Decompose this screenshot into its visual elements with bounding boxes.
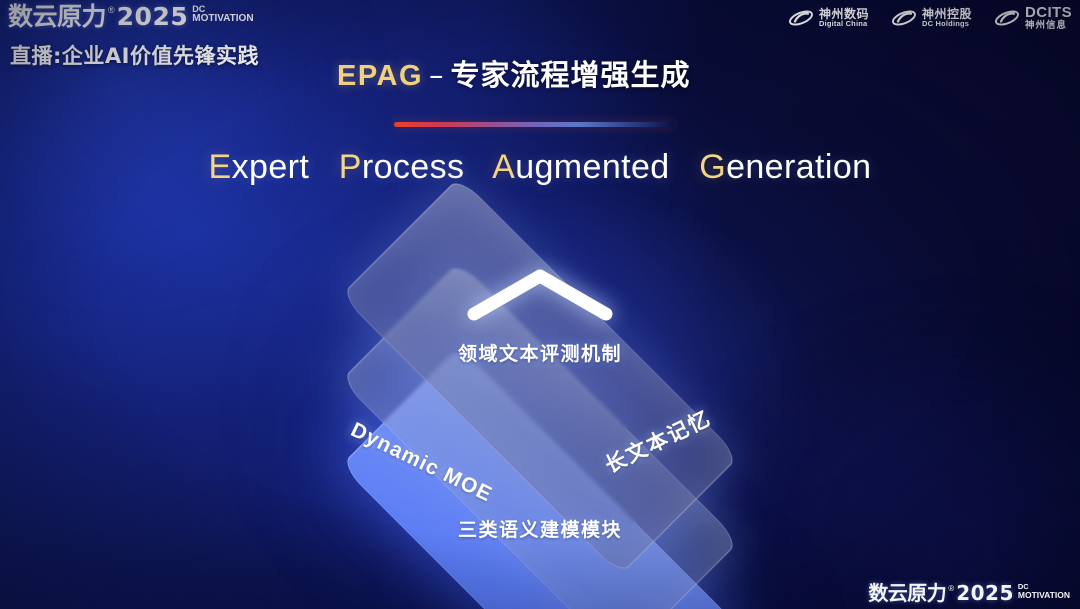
partner-label-group: 神州控股 DC Holdings xyxy=(922,8,972,28)
subtitle-space-1 xyxy=(319,148,329,186)
watermark-motivation-text: MOTIVATION xyxy=(1018,591,1070,600)
partner-logo-digital-china: 神州数码 Digital China xyxy=(788,7,869,29)
brand-year: 2025 xyxy=(117,4,189,29)
swirl-logo-icon xyxy=(994,7,1020,29)
chevron-up-icon xyxy=(462,264,618,322)
live-session-label: 直播:企业AI价值先锋实践 xyxy=(10,40,328,70)
title-chinese: 专家流程增强生成 xyxy=(451,58,691,92)
subtitle-word-process: Process xyxy=(339,148,465,186)
subtitle-cap-e: E xyxy=(209,148,232,186)
watermark-dc-motivation: DC MOTIVATION xyxy=(1018,583,1070,599)
partner-name-en: DC Holdings xyxy=(922,20,972,28)
subtitle-cap-a: A xyxy=(492,148,515,186)
partner-logo-dcits: DCITS 神州信息 xyxy=(994,5,1072,31)
brand-registered-mark: ® xyxy=(108,6,115,15)
partner-name-en: 神州信息 xyxy=(1025,21,1072,31)
partner-label-group: 神州数码 Digital China xyxy=(819,8,869,28)
header-left-block: 数云原力 ® 2025 DC MOTIVATION 直播:企业AI价值先锋实践 xyxy=(8,4,328,70)
subtitle-word-expert: Expert xyxy=(209,148,310,186)
stack-label-bottom: 三类语义建模模块 xyxy=(0,515,1080,542)
title-divider-rule xyxy=(394,122,674,127)
subtitle-expansion: Expert Process Augmented Generation xyxy=(0,148,1080,187)
subtitle-rest-augmented: ugmented xyxy=(515,148,669,186)
partner-logo-dc-holdings: 神州控股 DC Holdings xyxy=(891,7,972,29)
subtitle-rest-generation: eneration xyxy=(726,148,871,186)
title-acronym: EPAG xyxy=(337,60,423,92)
swirl-logo-icon xyxy=(891,7,917,29)
brand-name-cn: 数云原力 xyxy=(8,4,106,29)
partner-name-en: Digital China xyxy=(819,20,869,28)
slide-canvas: 数云原力 ® 2025 DC MOTIVATION 直播:企业AI价值先锋实践 … xyxy=(0,0,1080,609)
stack-label-top: 领域文本评测机制 xyxy=(0,339,1080,366)
subtitle-space-2 xyxy=(474,148,484,186)
swirl-logo-icon xyxy=(788,7,814,29)
subtitle-rest-expert: xpert xyxy=(232,148,310,186)
brand-dc-motivation: DC MOTIVATION xyxy=(192,5,253,24)
subtitle-cap-p: P xyxy=(339,148,362,186)
partner-logo-row: 神州数码 Digital China 神州控股 DC Holdings xyxy=(788,5,1072,31)
partner-label-group: DCITS 神州信息 xyxy=(1025,5,1072,31)
title-dash: – xyxy=(423,58,451,92)
subtitle-rest-process: rocess xyxy=(362,148,465,186)
subtitle-cap-g: G xyxy=(699,148,726,186)
layered-stack-diagram: 领域文本评测机制 Dynamic MOE 长文本记忆 三类语义建模模块 xyxy=(0,226,1080,576)
subtitle-space-3 xyxy=(679,148,689,186)
watermark-year: 2025 xyxy=(956,583,1014,603)
subtitle-word-generation: Generation xyxy=(699,148,871,186)
page-title: EPAG–专家流程增强生成 xyxy=(337,52,691,94)
subtitle-word-augmented: Augmented xyxy=(492,148,670,186)
watermark-registered-mark: ® xyxy=(948,584,954,593)
brand-motivation-text: MOTIVATION xyxy=(192,14,253,24)
footer-watermark-logo: 数云原力 ® 2025 DC MOTIVATION xyxy=(868,583,1070,603)
event-brand-logo: 数云原力 ® 2025 DC MOTIVATION xyxy=(8,4,328,29)
watermark-name-cn: 数云原力 xyxy=(868,583,946,603)
partner-name-cn: DCITS xyxy=(1025,5,1072,21)
